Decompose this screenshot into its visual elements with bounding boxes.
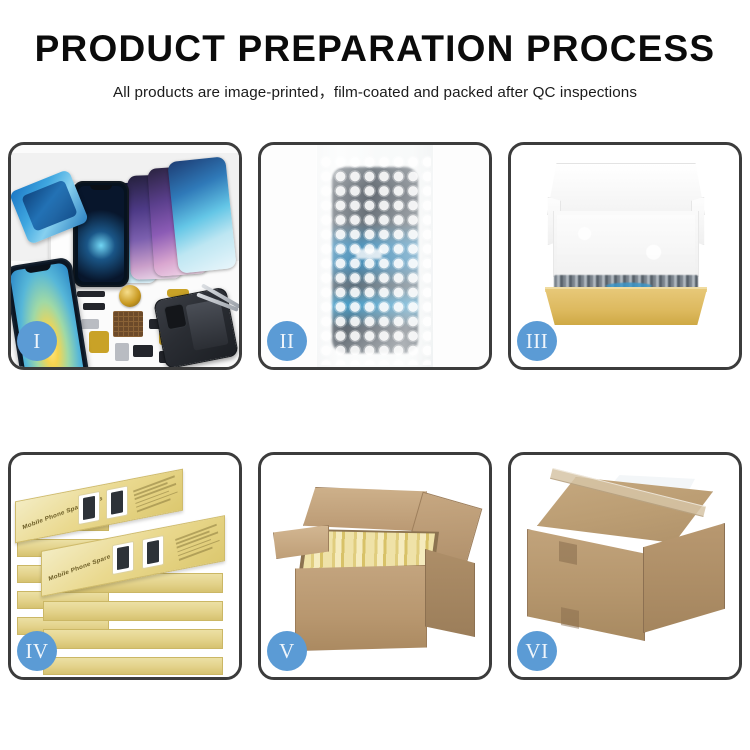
stacked-box-fr-2 (43, 601, 223, 621)
window-screen (111, 490, 123, 514)
part-button (115, 343, 129, 361)
lid-spec-list-front (175, 524, 221, 563)
part-earpiece (77, 291, 105, 297)
step-panel-5: V (258, 452, 492, 680)
carton-handle-tab-bottom (561, 607, 579, 629)
phone-front-assembly (73, 181, 129, 287)
step-badge-2: II (267, 321, 307, 361)
window-screen (147, 540, 159, 564)
lid-window-front-1 (112, 541, 134, 575)
part-speaker-coil (119, 285, 141, 307)
product-preparation-infographic: PRODUCT PREPARATION PROCESS All products… (0, 0, 750, 750)
part-metal-shield (81, 319, 99, 329)
carton-right-face (425, 549, 475, 637)
stacked-box-fr-4 (43, 657, 223, 675)
carton-handle-tab-top (559, 541, 577, 565)
phone-screen-1 (167, 156, 236, 273)
lid-spec-list-back (133, 475, 179, 514)
lid-window-back-2 (106, 485, 128, 519)
header: PRODUCT PREPARATION PROCESS All products… (0, 0, 750, 102)
step-badge-1: I (17, 321, 57, 361)
step-badge-3: III (517, 321, 557, 361)
step-panel-2: II (258, 142, 492, 370)
step-panel-1: I (8, 142, 242, 370)
step-panel-3: III (508, 142, 742, 370)
carton-front-face (295, 565, 427, 651)
carton-flap-back (303, 487, 427, 531)
camera-cutout (163, 303, 187, 330)
window-screen (83, 496, 95, 520)
part-ic-chip (113, 311, 143, 337)
part-flex-connector (89, 331, 109, 353)
box-tray (545, 289, 707, 325)
notch (90, 185, 112, 190)
lid-window-front-2 (142, 535, 164, 569)
open-shipping-carton (277, 485, 475, 653)
part-bracket (83, 303, 105, 310)
step-panel-4: Mobile Phone Spare Parts (8, 452, 242, 680)
foam-padding (557, 215, 695, 277)
lid-window-back-1 (78, 491, 100, 525)
process-steps-grid: I II (8, 142, 742, 680)
step-panel-6: VI (508, 452, 742, 680)
sealed-shipping-carton (525, 477, 727, 649)
window-screen (117, 546, 129, 570)
carton-front-face (527, 529, 645, 641)
part-vibrator (133, 345, 153, 357)
notch (25, 264, 52, 274)
box-lid-back (547, 163, 705, 215)
stacked-box-fr-3 (43, 629, 223, 649)
plastic-sheen (316, 145, 434, 367)
step-badge-6: VI (517, 631, 557, 671)
step-badge-4: IV (17, 631, 57, 671)
page-title: PRODUCT PREPARATION PROCESS (0, 30, 750, 69)
step-badge-5: V (267, 631, 307, 671)
page-subtitle: All products are image-printed，film-coat… (0, 80, 750, 102)
inner-box (537, 163, 715, 333)
